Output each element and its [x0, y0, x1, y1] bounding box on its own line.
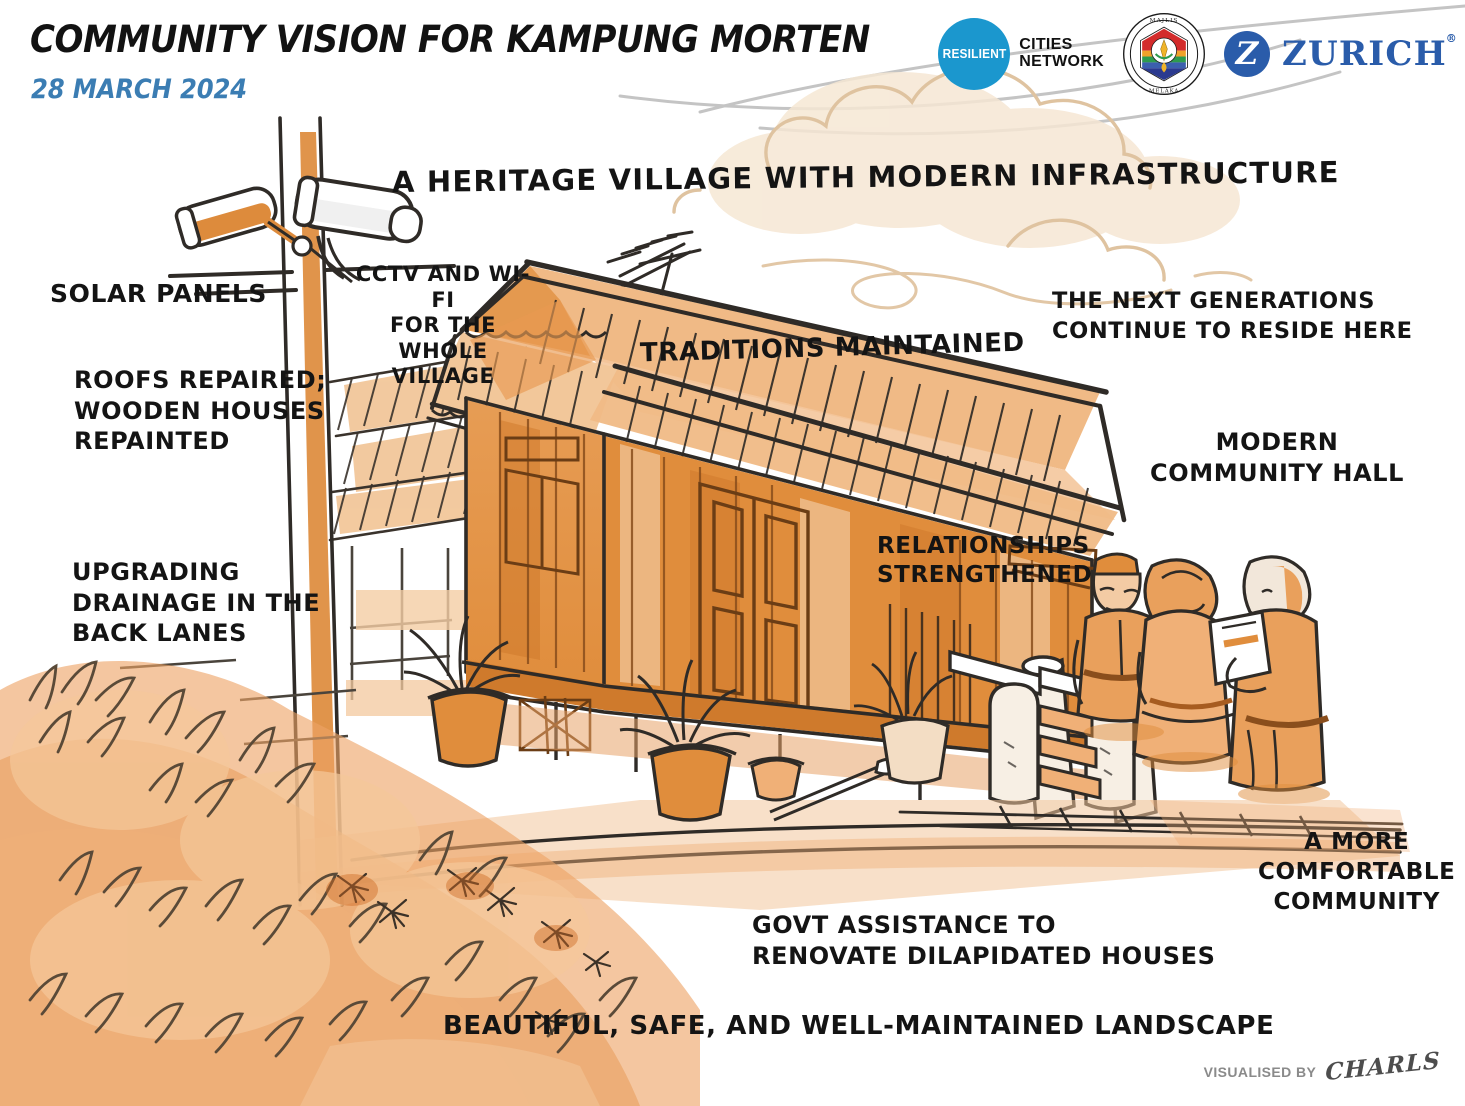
logo-majlis-bandaraya-melaka: MAJLIS MELAKA — [1122, 12, 1206, 96]
clipboard — [1210, 612, 1270, 684]
credit-label: VISUALISED BY — [1204, 1064, 1317, 1080]
artist-credit: VISUALISED BY CHARLS — [1204, 1053, 1441, 1080]
zurich-wordmark: ZURICH® — [1282, 34, 1447, 74]
annotation-roofs-repaired: ROOFS REPAIRED; WOODEN HOUSES REPAINTED — [74, 365, 326, 457]
annotation-govt-assistance: GOVT ASSISTANCE TO RENOVATE DILAPIDATED … — [752, 910, 1216, 972]
cctv-camera-left — [175, 184, 311, 255]
annotation-community-hall: MODERN COMMUNITY HALL — [1150, 427, 1404, 489]
city-council-seal-icon: MAJLIS MELAKA — [1122, 12, 1206, 96]
resilient-label: RESILIENT — [942, 47, 1006, 61]
annotation-drainage: UPGRADING DRAINAGE IN THE BACK LANES — [72, 557, 320, 649]
svg-text:MAJLIS: MAJLIS — [1150, 18, 1179, 24]
zurich-z-icon: Z — [1224, 31, 1270, 77]
annotation-landscape: BEAUTIFUL, SAFE, AND WELL-MAINTAINED LAN… — [443, 1011, 1274, 1043]
logo-zurich: Z ZURICH® — [1224, 31, 1447, 77]
zurich-word-text: ZURICH — [1282, 34, 1447, 74]
annotation-relationships: RELATIONSHIPS STRENGTHENED — [877, 532, 1092, 591]
logo-bar: RESILIENT CITIES NETWORK MAJL — [938, 8, 1447, 100]
annotation-next-generations: THE NEXT GENERATIONS CONTINUE TO RESIDE … — [1052, 287, 1413, 347]
annotation-cctv-wifi: CCTV AND WI-FI FOR THE WHOLE VILLAGE — [348, 262, 538, 390]
cities-network-wordmark: CITIES NETWORK — [1019, 37, 1104, 71]
page-date: 28 MARCH 2024 — [31, 74, 247, 105]
page-title: COMMUNITY VISION FOR KAMPUNG MORTEN — [30, 18, 870, 61]
network-line: NETWORK — [1019, 54, 1104, 71]
resilient-circle-icon: RESILIENT — [938, 18, 1010, 90]
cities-line: CITIES — [1019, 37, 1104, 54]
poster-canvas: COMMUNITY VISION FOR KAMPUNG MORTEN 28 M… — [0, 0, 1465, 1106]
svg-text:MELAKA: MELAKA — [1149, 89, 1179, 95]
ground-pot — [748, 758, 804, 800]
logo-resilient-cities-network: RESILIENT CITIES NETWORK — [938, 18, 1104, 90]
zurich-trademark: ® — [1446, 32, 1458, 45]
annotation-comfortable: A MORE COMFORTABLE COMMUNITY — [1258, 828, 1455, 918]
annotation-solar-panels: SOLAR PANELS — [50, 279, 267, 310]
